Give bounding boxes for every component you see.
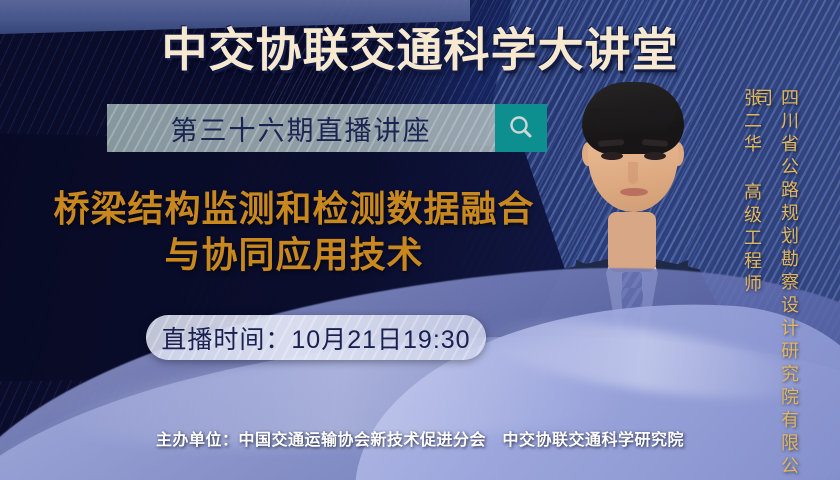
- episode-label: 第三十六期直播讲座: [171, 109, 432, 148]
- organizer-line: 主办单位：中国交通运输协会新技术促进分会 中交协联交通科学研究院: [0, 426, 840, 450]
- portrait-neck: [608, 212, 656, 272]
- episode-banner: 第三十六期直播讲座: [107, 104, 547, 152]
- webinar-poster: 中交协联交通科学大讲堂 第三十六期直播讲座 桥梁结构监测和检测数据融合 与协同应…: [0, 0, 840, 480]
- portrait-nose: [628, 162, 638, 184]
- speaker-organization: 四川省公路规划勘察设计研究院有限公司: [750, 88, 802, 480]
- poster-title: 中交协联交通科学大讲堂: [0, 14, 840, 80]
- broadcast-time-banner: 直播时间：10月21日19:30: [146, 315, 486, 360]
- portrait-eye-right: [644, 152, 666, 160]
- headline-line-1: 桥梁结构监测和检测数据融合: [24, 186, 564, 232]
- search-icon[interactable]: [495, 104, 547, 152]
- portrait-eye-left: [601, 152, 623, 160]
- headline-line-2: 与协同应用技术: [24, 232, 564, 278]
- broadcast-time-text: 直播时间：10月21日19:30: [161, 320, 470, 356]
- lecture-headline: 桥梁结构监测和检测数据融合 与协同应用技术: [24, 186, 564, 278]
- episode-banner-body: 第三十六期直播讲座: [107, 104, 495, 152]
- portrait-mouth: [620, 188, 648, 196]
